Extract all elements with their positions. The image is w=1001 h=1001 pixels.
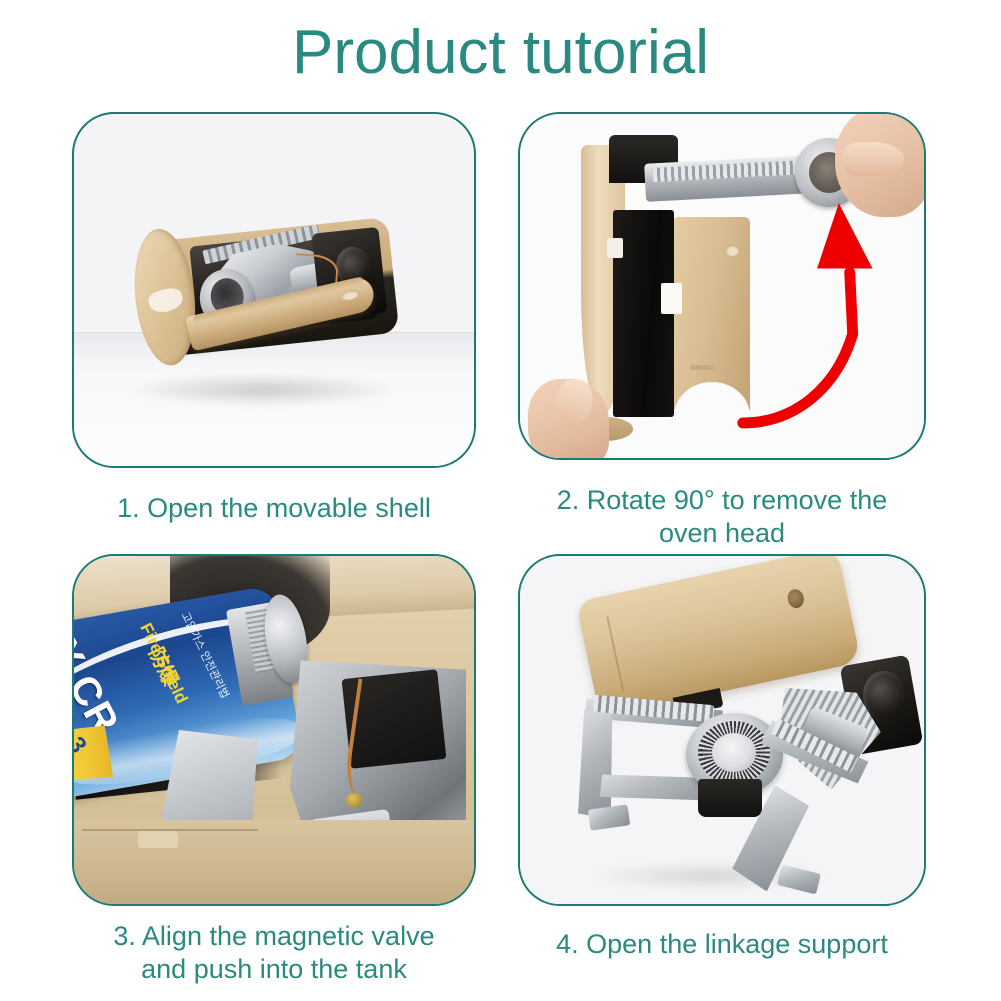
valve-port [863, 671, 903, 720]
page-title: Product tutorial [0, 16, 1001, 90]
caption-line-2: oven head [508, 517, 936, 550]
caption-line-1: 4. Open the linkage support [508, 928, 936, 961]
tutorial-step-4-image-panel [518, 554, 926, 906]
burner-base-mount [698, 779, 763, 817]
tank-bottom-shell [74, 820, 474, 904]
brass-fitting [346, 793, 362, 807]
tutorial-step-3-caption: 3. Align the magnetic valve and push int… [62, 920, 486, 986]
step-1-illustration [74, 114, 474, 466]
step-4-illustration [520, 556, 924, 904]
caption-line-1: 1. Open the movable shell [72, 492, 476, 525]
tutorial-step-1-image-panel [72, 112, 476, 468]
tutorial-step-2-image-panel [518, 112, 926, 460]
step-3-illustration: Butane X CR Fire Shield 防爆 고압가스 안전관리법 3 [74, 556, 474, 904]
caption-line-1: 3. Align the magnetic valve [62, 920, 486, 953]
tutorial-step-1-caption: 1. Open the movable shell [72, 492, 476, 525]
step-2-illustration [520, 114, 924, 458]
tutorial-step-2-caption: 2. Rotate 90° to remove the oven head [508, 484, 936, 550]
tutorial-step-3-image-panel: Butane X CR Fire Shield 防爆 고압가스 안전관리법 3 [72, 554, 476, 906]
lid-vent-slot [341, 289, 360, 302]
burner-center-plate [712, 733, 756, 771]
tank-bottom-notch [138, 831, 178, 848]
stove-shadow [130, 374, 394, 406]
caption-line-2: and push into the tank [62, 953, 486, 986]
tutorial-step-4-caption: 4. Open the linkage support [508, 928, 936, 961]
brand-logo [147, 286, 185, 315]
caption-line-1: 2. Rotate 90° to remove the [508, 484, 936, 517]
rotation-arrow-icon [520, 114, 924, 458]
tank-seam [606, 617, 624, 691]
tank-vent-hole [786, 588, 806, 610]
